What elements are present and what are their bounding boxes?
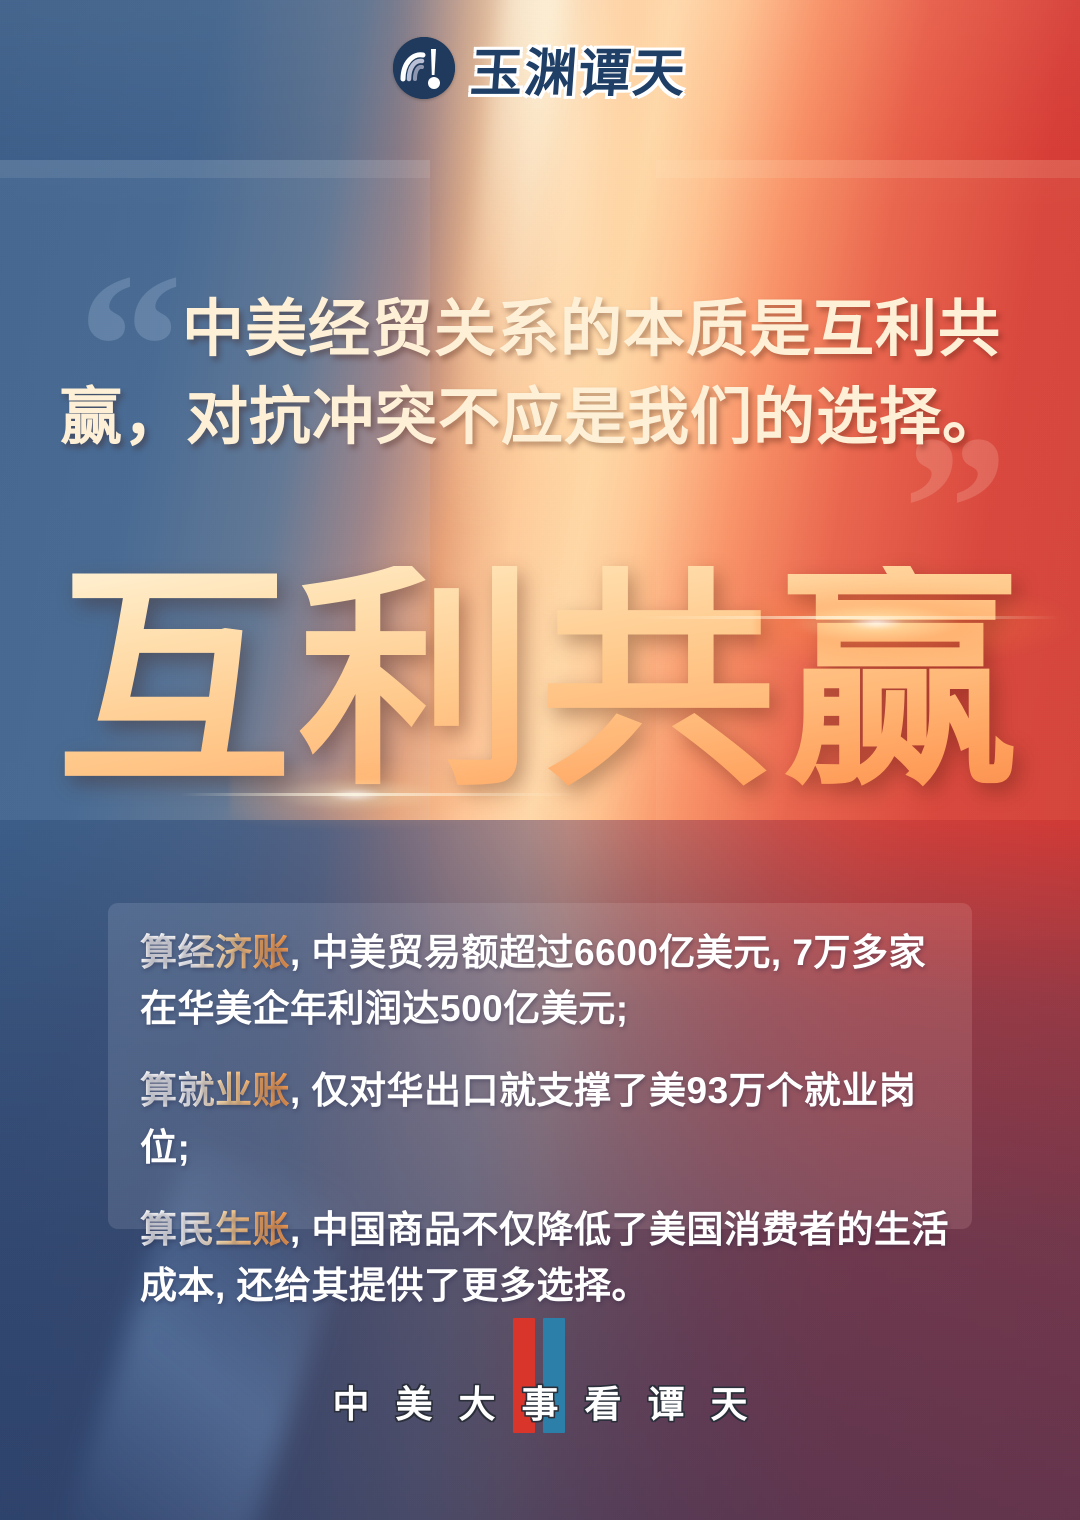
brand-logo: 玉渊谭天 <box>0 28 1080 108</box>
footer-slogan: 中美大事看谭天 <box>0 1374 1080 1428</box>
body-paragraph: 算经济账, 中美贸易额超过6600亿美元, 7万多家在华美企年利润达500亿美元… <box>140 925 950 1037</box>
paragraph-highlight: 算经济账 <box>140 932 290 973</box>
wave-exclamation-icon <box>393 37 455 99</box>
footer: 中美大事看谭天 <box>0 1318 1080 1458</box>
quote-block: “ ” 中美经贸关系的本质是互利共 赢，对抗冲突不应是我们的选择。 <box>60 286 1020 546</box>
quote-line-1: 中美经贸关系的本质是互利共 <box>182 296 1001 364</box>
poster-canvas: 玉渊谭天 “ ” 中美经贸关系的本质是互利共 赢，对抗冲突不应是我们的选择。 互… <box>0 0 1080 1520</box>
body-paragraph: 算民生账, 中国商品不仅降低了美国消费者的生活成本, 还给其提供了更多选择。 <box>140 1202 950 1314</box>
quote-line-2: 赢，对抗冲突不应是我们的选择。 <box>60 374 1020 462</box>
body-text: 算经济账, 中美贸易额超过6600亿美元, 7万多家在华美企年利润达500亿美元… <box>140 925 950 1314</box>
body-paragraph: 算就业账, 仅对华出口就支撑了美93万个就业岗位; <box>140 1063 950 1175</box>
quote-text: 中美经贸关系的本质是互利共 赢，对抗冲突不应是我们的选择。 <box>60 286 1020 462</box>
paragraph-highlight: 算民生账 <box>140 1209 290 1250</box>
headline: 互利共赢 <box>0 566 1080 802</box>
brand-name: 玉渊谭天 <box>468 31 689 106</box>
paragraph-highlight: 算就业账 <box>140 1070 290 1111</box>
